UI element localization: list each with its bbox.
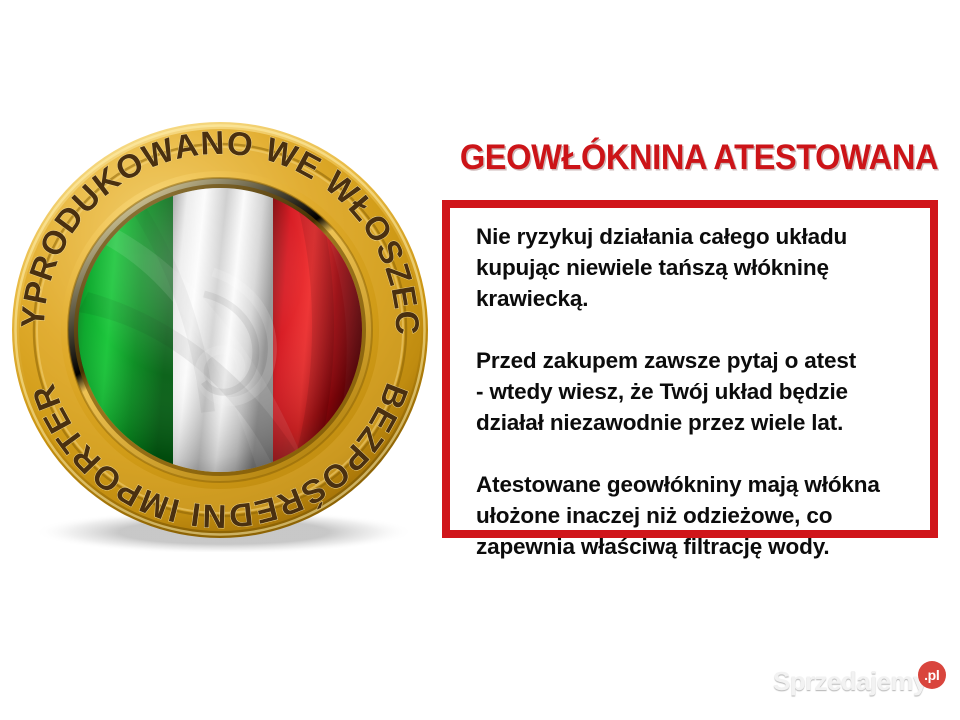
- watermark-domain-badge: .pl: [918, 661, 946, 689]
- info-paragraph-3: Atestowane geowłókniny mają włókna ułożo…: [476, 469, 922, 562]
- info-paragraph-1: Nie ryzykuj działania całego układu kupu…: [476, 221, 922, 314]
- info-callout-box: Nie ryzykuj działania całego układu kupu…: [442, 200, 938, 538]
- info-text-block: Nie ryzykuj działania całego układu kupu…: [476, 221, 922, 562]
- watermark-text: Sprzedajemy: [773, 666, 927, 696]
- seal-graphic: WYPRODUKOWANO WE WŁOSZECH BEZPOŚREDNI IM…: [8, 112, 432, 552]
- made-in-italy-seal: WYPRODUKOWANO WE WŁOSZECH BEZPOŚREDNI IM…: [8, 112, 432, 552]
- info-paragraph-2: Przed zakupem zawsze pytaj o atest - wte…: [476, 345, 922, 438]
- page-title: GEOWŁÓKNINA ATESTOWANA: [460, 138, 934, 184]
- watermark: Sprzedajemy .pl: [773, 666, 946, 700]
